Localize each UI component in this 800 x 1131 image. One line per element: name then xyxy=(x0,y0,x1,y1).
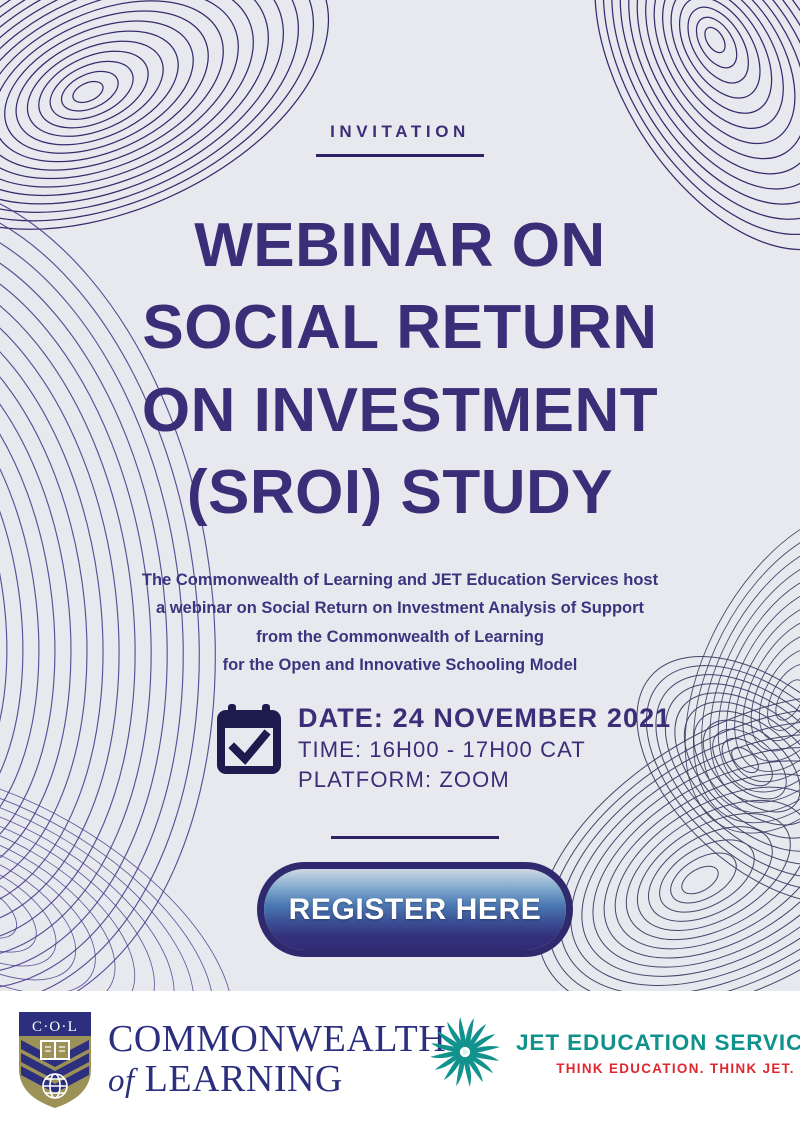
col-name-learning: LEARNING xyxy=(145,1058,343,1100)
page-title: WEBINAR ON SOCIAL RETURN ON INVESTMENT (… xyxy=(50,205,750,535)
jet-pinwheel-icon xyxy=(428,1015,502,1089)
event-date: DATE: 24 NOVEMBER 2021 xyxy=(298,702,671,735)
event-details: DATE: 24 NOVEMBER 2021 TIME: 16H00 - 17H… xyxy=(216,700,776,795)
event-time: TIME: 16H00 - 17H00 CAT xyxy=(298,735,671,765)
invitation-eyebrow: INVITATION xyxy=(0,122,800,157)
event-platform: PLATFORM: ZOOM xyxy=(298,765,671,795)
eyebrow-label: INVITATION xyxy=(330,122,470,142)
poster-canvas: INVITATION WEBINAR ON SOCIAL RETURN ON I… xyxy=(0,0,800,991)
blurb-line-1: The Commonwealth of Learning and JET Edu… xyxy=(60,566,740,594)
poster-content: INVITATION WEBINAR ON SOCIAL RETURN ON I… xyxy=(0,0,800,991)
blurb-line-3: from the Commonwealth of Learning xyxy=(60,623,740,651)
svg-text:C·O·L: C·O·L xyxy=(32,1019,78,1035)
col-name-of: of xyxy=(108,1063,135,1099)
col-book-icon xyxy=(41,1041,69,1059)
eyebrow-divider xyxy=(316,154,484,157)
invitation-poster: INVITATION WEBINAR ON SOCIAL RETURN ON I… xyxy=(0,0,800,1131)
commonwealth-of-learning-logo: C·O·L COMM xyxy=(16,1009,446,1111)
jet-wordmark: JET EDUCATION SERVICES THINK EDUCATION. … xyxy=(516,1028,800,1076)
title-line-2: SOCIAL RETURN xyxy=(50,287,750,369)
calendar-check-icon xyxy=(216,704,282,776)
title-line-1: WEBINAR ON xyxy=(50,205,750,287)
section-divider xyxy=(331,836,499,839)
col-name-line-1: COMMONWEALTH xyxy=(108,1020,446,1060)
blurb-line-4: for the Open and Innovative Schooling Mo… xyxy=(60,651,740,679)
register-button[interactable]: REGISTER HERE xyxy=(264,869,566,950)
jet-tagline: THINK EDUCATION. THINK JET. xyxy=(516,1061,800,1076)
title-line-4: (SROI) STUDY xyxy=(50,452,750,534)
col-name-line-2: of LEARNING xyxy=(108,1060,446,1100)
description-paragraph: The Commonwealth of Learning and JET Edu… xyxy=(60,566,740,680)
logo-footer: C·O·L COMM xyxy=(0,991,800,1131)
register-button-label: REGISTER HERE xyxy=(289,893,542,927)
col-shield-icon: C·O·L xyxy=(16,1009,94,1111)
col-name-line-1-text: COMMONWEALTH xyxy=(108,1018,446,1060)
title-line-3: ON INVESTMENT xyxy=(50,370,750,452)
col-wordmark: COMMONWEALTH of LEARNING xyxy=(108,1020,446,1099)
jet-education-services-logo: JET EDUCATION SERVICES THINK EDUCATION. … xyxy=(428,1015,800,1089)
event-detail-lines: DATE: 24 NOVEMBER 2021 TIME: 16H00 - 17H… xyxy=(298,700,671,795)
blurb-line-2: a webinar on Social Return on Investment… xyxy=(60,594,740,622)
jet-name: JET EDUCATION SERVICES xyxy=(516,1030,800,1056)
